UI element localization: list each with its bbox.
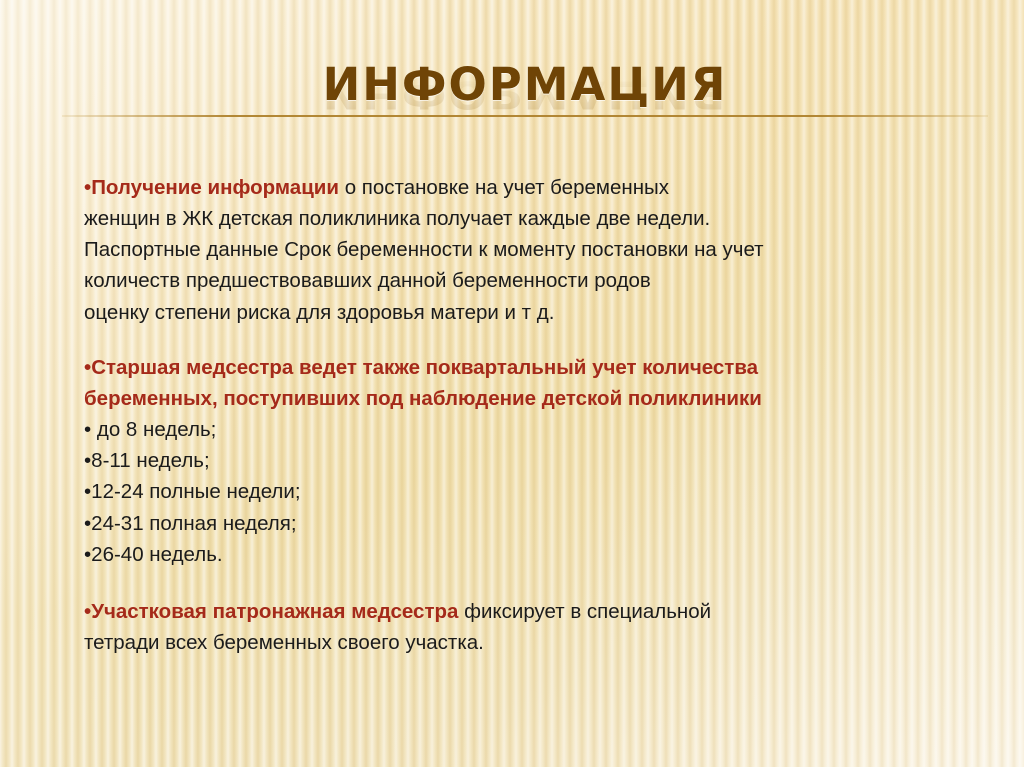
text-run: тетради всех беременных своего участка. bbox=[84, 631, 484, 654]
text-emphasis: Получение информации bbox=[91, 176, 339, 199]
paragraph-district-nurse: •Участковая патронажная медсестра фиксир… bbox=[84, 596, 968, 658]
spacer bbox=[84, 570, 968, 596]
text-run: о постановке на учет беременных bbox=[339, 176, 669, 199]
text-run: количеств предшествовавших данной береме… bbox=[84, 269, 651, 292]
text-line: беременных, поступивших под наблюдение д… bbox=[84, 383, 968, 414]
text-run: оценку степени риска для здоровья матери… bbox=[84, 301, 554, 324]
text-emphasis: беременных, поступивших под наблюдение д… bbox=[84, 387, 762, 410]
list-item: •8-11 недель; bbox=[84, 445, 968, 476]
slide-title-area: Информация Информация bbox=[62, 62, 988, 172]
text-emphasis: Старшая медсестра ведет также покварталь… bbox=[91, 356, 758, 379]
text-line: количеств предшествовавших данной береме… bbox=[84, 265, 968, 296]
list-weeks: • до 8 недель; •8-11 недель; •12-24 полн… bbox=[84, 414, 968, 570]
title-divider-rule bbox=[62, 115, 988, 117]
text-line: •Участковая патронажная медсестра фиксир… bbox=[84, 596, 968, 627]
list-item: • до 8 недель; bbox=[84, 414, 968, 445]
paragraph-information-receipt: •Получение информации о постановке на уч… bbox=[84, 172, 968, 328]
text-run: женщин в ЖК детская поликлиника получает… bbox=[84, 207, 710, 230]
text-run: фиксирует в специальной bbox=[458, 600, 711, 623]
slide-body: •Получение информации о постановке на уч… bbox=[84, 172, 968, 658]
text-line: оценку степени риска для здоровья матери… bbox=[84, 297, 968, 328]
text-line: •Получение информации о постановке на уч… bbox=[84, 172, 968, 203]
text-line: Паспортные данные Срок беременности к мо… bbox=[84, 234, 968, 265]
list-item: •26-40 недель. bbox=[84, 539, 968, 570]
list-item: •24-31 полная неделя; bbox=[84, 508, 968, 539]
slide-content: Информация Информация •Получение информа… bbox=[0, 0, 1024, 767]
text-run: Паспортные данные Срок беременности к мо… bbox=[84, 238, 764, 261]
text-line: •Старшая медсестра ведет также поквартал… bbox=[84, 352, 968, 383]
text-emphasis: Участковая патронажная медсестра bbox=[91, 600, 458, 623]
spacer bbox=[84, 328, 968, 352]
paragraph-senior-nurse: •Старшая медсестра ведет также поквартал… bbox=[84, 352, 968, 414]
list-item: •12-24 полные недели; bbox=[84, 476, 968, 507]
text-line: тетради всех беременных своего участка. bbox=[84, 627, 968, 658]
text-line: женщин в ЖК детская поликлиника получает… bbox=[84, 203, 968, 234]
slide: Информация Информация •Получение информа… bbox=[0, 0, 1024, 767]
page-title: Информация bbox=[62, 62, 988, 107]
